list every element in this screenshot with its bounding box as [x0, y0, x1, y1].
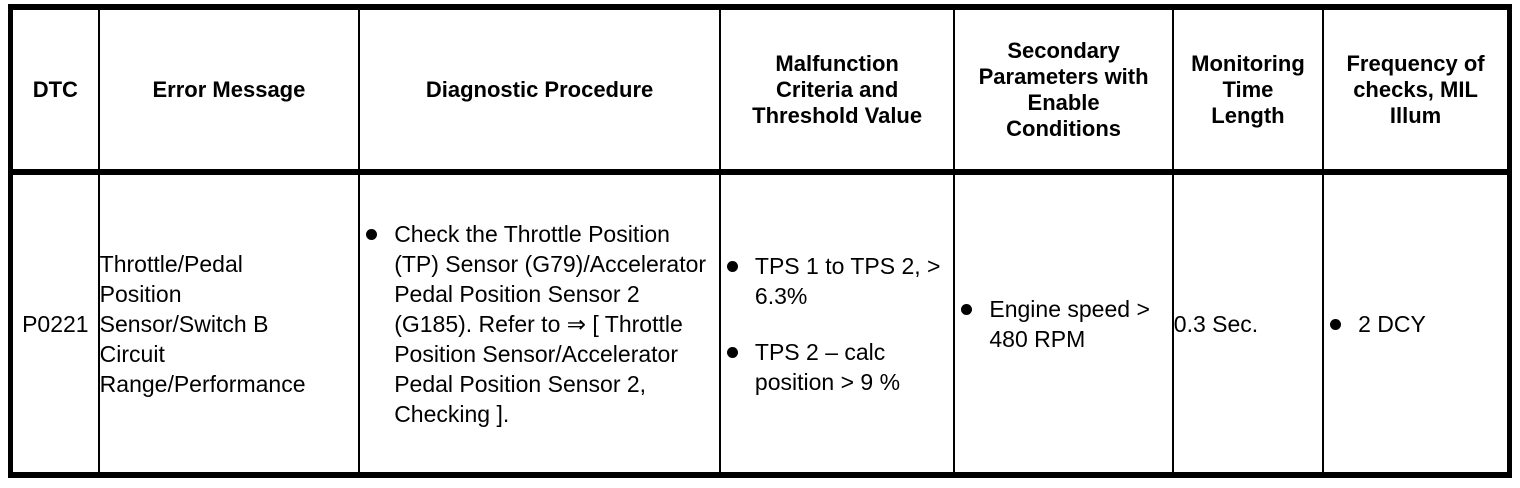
table-row: P0221 Throttle/Pedal Position Sensor/Swi… — [11, 172, 1510, 475]
diagnostic-procedure-item-text: Check the Throttle Position (TP) Sensor … — [394, 219, 719, 429]
column-header-diagnostic-procedure: Diagnostic Procedure — [359, 7, 720, 172]
column-header-error-message-label: Error Message — [104, 77, 355, 103]
column-header-malfunction-criteria: Malfunction Criteria and Threshold Value — [720, 7, 954, 172]
secondary-parameters-item-text: Engine speed > 480 RPM — [989, 294, 1171, 354]
malfunction-criteria-item-text: TPS 2 – calc position > 9 % — [755, 337, 953, 397]
bullet-icon — [727, 347, 738, 358]
column-header-frequency-of-checks: Frequency of checks, MIL Illum — [1323, 7, 1509, 172]
column-header-monitoring-time-length: Monitoring Time Length — [1173, 7, 1323, 172]
cell-dtc: P0221 — [11, 172, 99, 475]
cell-secondary-parameters: Engine speed > 480 RPM — [954, 172, 1172, 475]
bullet-icon — [961, 304, 972, 315]
column-header-dtc-label: DTC — [17, 77, 94, 103]
bullet-icon — [727, 261, 738, 272]
frequency-of-checks-item-text: 2 DCY — [1358, 309, 1507, 339]
error-message-text: Throttle/Pedal Position Sensor/Switch B … — [100, 249, 359, 399]
table-header-row: DTC Error Message Diagnostic Procedure M… — [11, 7, 1510, 172]
bullet-icon — [1330, 319, 1341, 330]
column-header-dtc: DTC — [11, 7, 99, 172]
column-header-diagnostic-procedure-label: Diagnostic Procedure — [364, 77, 715, 103]
cell-diagnostic-procedure: Check the Throttle Position (TP) Sensor … — [359, 172, 720, 475]
column-header-monitoring-time-length-label: Monitoring Time Length — [1178, 51, 1318, 129]
list-item: 2 DCY — [1324, 309, 1507, 339]
dtc-diagnostic-table: DTC Error Message Diagnostic Procedure M… — [8, 4, 1512, 478]
list-item: TPS 2 – calc position > 9 % — [721, 337, 953, 397]
column-header-malfunction-criteria-label: Malfunction Criteria and Threshold Value — [725, 51, 949, 129]
cell-error-message: Throttle/Pedal Position Sensor/Switch B … — [99, 172, 360, 475]
frequency-of-checks-list: 2 DCY — [1324, 309, 1507, 339]
dtc-code: P0221 — [13, 309, 98, 339]
list-item: Check the Throttle Position (TP) Sensor … — [360, 219, 719, 429]
column-header-secondary-parameters: Secondary Parameters with Enable Conditi… — [954, 7, 1172, 172]
column-header-frequency-of-checks-label: Frequency of checks, MIL Illum — [1328, 51, 1503, 129]
cell-malfunction-criteria: TPS 1 to TPS 2, > 6.3% TPS 2 – calc posi… — [720, 172, 954, 475]
cell-monitoring-time-length: 0.3 Sec. — [1173, 172, 1323, 475]
dtc-table-container: DTC Error Message Diagnostic Procedure M… — [8, 4, 1512, 478]
column-header-secondary-parameters-label: Secondary Parameters with Enable Conditi… — [959, 38, 1167, 142]
list-item: Engine speed > 480 RPM — [955, 294, 1171, 354]
column-header-error-message: Error Message — [99, 7, 360, 172]
malfunction-criteria-list: TPS 1 to TPS 2, > 6.3% TPS 2 – calc posi… — [721, 251, 953, 397]
monitoring-time-length-value: 0.3 Sec. — [1174, 309, 1322, 339]
secondary-parameters-list: Engine speed > 480 RPM — [955, 294, 1171, 354]
diagnostic-procedure-list: Check the Throttle Position (TP) Sensor … — [360, 219, 719, 429]
list-item: TPS 1 to TPS 2, > 6.3% — [721, 251, 953, 311]
cell-frequency-of-checks: 2 DCY — [1323, 172, 1509, 475]
bullet-icon — [366, 229, 377, 240]
malfunction-criteria-item-text: TPS 1 to TPS 2, > 6.3% — [755, 251, 953, 311]
